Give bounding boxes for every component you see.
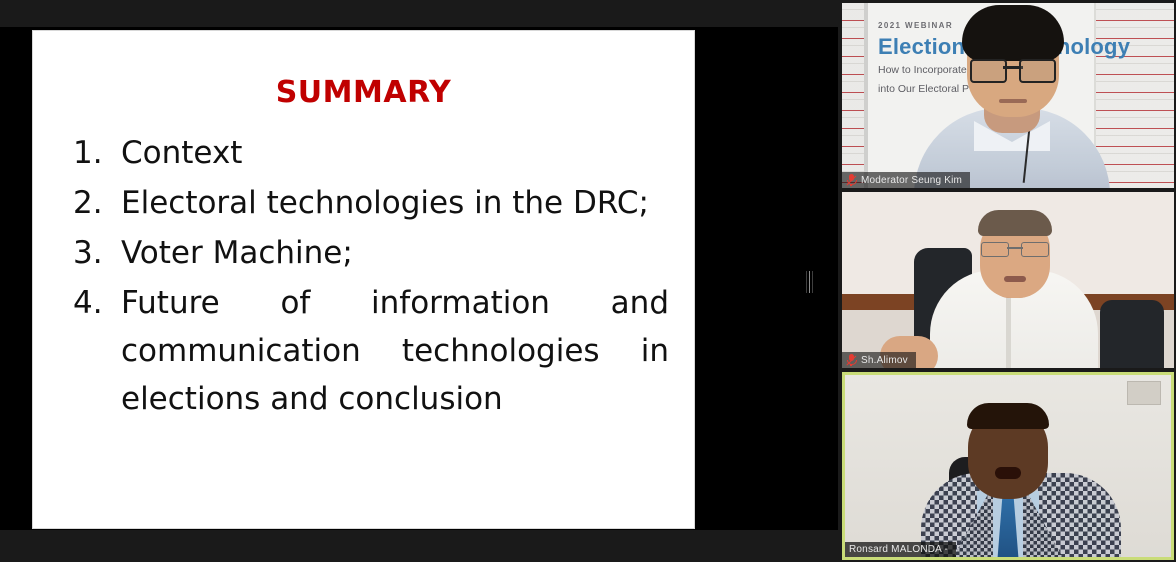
person-hair <box>978 210 1052 236</box>
slide-body: 1. Context 2. Electoral technologies in … <box>69 129 669 425</box>
backdrop-side-panel <box>842 3 864 188</box>
office-chair <box>1100 300 1164 368</box>
person-mouth <box>1004 276 1026 282</box>
backdrop-subtitle-line-1: How to Incorporate <box>878 64 967 76</box>
slide-item-text: Electoral technologies in the DRC; <box>121 179 669 227</box>
panel-resize-handle[interactable] <box>803 265 815 299</box>
slide-list-item: 3. Voter Machine; <box>69 229 669 277</box>
participant-filmstrip[interactable]: 2021 WEBINAR Elections & Technology How … <box>838 0 1176 562</box>
resize-grip-line <box>812 271 813 293</box>
resize-grip-line <box>809 271 810 293</box>
slide-item-number: 2. <box>69 179 121 227</box>
participant-video-feed <box>845 375 1171 557</box>
participant-name: Sh.Alimov <box>861 355 908 366</box>
presentation-slide[interactable]: SUMMARY 1. Context 2. Electoral technolo… <box>33 31 694 528</box>
person-mouth <box>995 467 1021 479</box>
wall-poster <box>1127 381 1161 405</box>
mic-muted-icon <box>846 354 856 366</box>
mic-muted-icon <box>846 174 856 186</box>
slide-item-text: Future of information and communication … <box>121 279 669 423</box>
person-hair <box>967 403 1049 429</box>
resize-grip-line <box>806 271 807 293</box>
participant-tile-malonda[interactable]: Ronsard MALONDA - <box>842 372 1174 560</box>
slide-item-text: Voter Machine; <box>121 229 669 277</box>
participant-name-badge: Moderator Seung Kim <box>842 172 970 188</box>
person-mouth <box>999 99 1027 103</box>
shared-screen-region[interactable]: SUMMARY 1. Context 2. Electoral technolo… <box>0 0 838 562</box>
backdrop-kicker-text: 2021 WEBINAR <box>878 21 953 30</box>
participant-video-feed: 2021 WEBINAR Elections & Technology How … <box>842 3 1174 188</box>
slide-list-item: 2. Electoral technologies in the DRC; <box>69 179 669 227</box>
participant-name-badge: Sh.Alimov <box>842 352 916 368</box>
participant-tile-moderator[interactable]: 2021 WEBINAR Elections & Technology How … <box>842 3 1174 188</box>
backdrop-subtitle-line-2: into Our Electoral P <box>878 83 969 95</box>
participant-name: Moderator Seung Kim <box>861 175 962 186</box>
person-hair <box>962 5 1064 61</box>
slide-item-number: 3. <box>69 229 121 277</box>
person-glasses <box>981 242 1049 255</box>
participant-tile-alimov[interactable]: Sh.Alimov <box>842 192 1174 368</box>
participant-name-badge: Ronsard MALONDA - <box>845 542 956 557</box>
glasses-lens-right <box>1021 242 1049 257</box>
slide-item-number: 4. <box>69 279 121 327</box>
video-conference-window: SUMMARY 1. Context 2. Electoral technolo… <box>0 0 1176 562</box>
slide-list-item: 4. Future of information and communicati… <box>69 279 669 423</box>
slide-item-text: Context <box>121 129 669 177</box>
glasses-lens-left <box>981 242 1009 257</box>
person-glasses <box>970 59 1056 79</box>
glasses-lens-left <box>970 59 1007 83</box>
slide-item-number: 1. <box>69 129 121 177</box>
participant-video-feed <box>842 192 1174 368</box>
backdrop-side-panel <box>1096 3 1174 188</box>
participant-name: Ronsard MALONDA - <box>849 544 948 555</box>
slide-list-item: 1. Context <box>69 129 669 177</box>
glasses-lens-right <box>1019 59 1056 83</box>
slide-title: SUMMARY <box>33 75 694 110</box>
